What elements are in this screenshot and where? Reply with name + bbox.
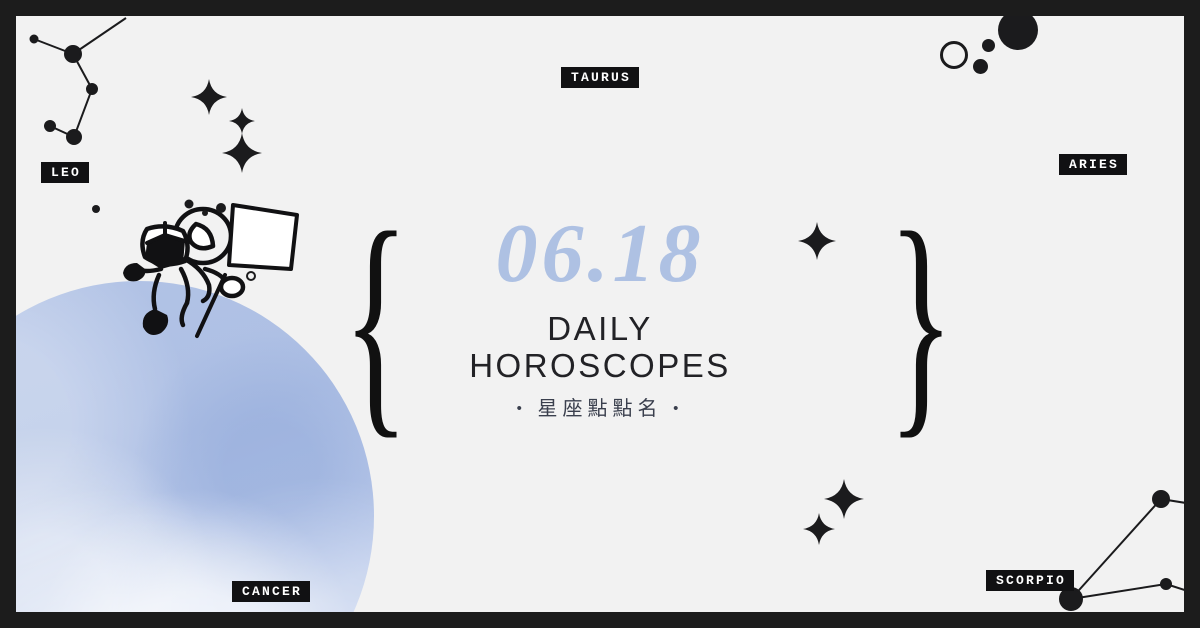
sparkle-icon [229, 108, 255, 134]
title-block: 06.18 DAILY HOROSCOPES • 星座點點名 • [16, 212, 1184, 421]
sparkle-icon [191, 79, 227, 115]
decorative-dot [998, 16, 1038, 50]
decorative-ring [940, 41, 968, 69]
zodiac-tag-cancer: CANCER [232, 581, 310, 602]
date-text: 06.18 [16, 212, 1184, 296]
poster: { } 06.18 DAILY HOROSCOPES • 星座點點名 • TAU… [0, 0, 1200, 628]
zodiac-tag-leo: LEO [41, 162, 89, 183]
subtitle-text: 星座點點名 [538, 398, 663, 420]
decorative-dot [982, 39, 995, 52]
poster-canvas: { } 06.18 DAILY HOROSCOPES • 星座點點名 • TAU… [16, 16, 1184, 612]
decorative-dot [973, 59, 988, 74]
zodiac-tag-scorpio: SCORPIO [986, 570, 1074, 591]
title-line-1: DAILY [16, 310, 1184, 347]
subtitle-dot-left: • [517, 400, 527, 417]
sparkle-icon [803, 513, 835, 545]
title-line-2: HOROSCOPES [16, 347, 1184, 384]
zodiac-tag-aries: ARIES [1059, 154, 1127, 175]
subtitle: • 星座點點名 • [16, 392, 1184, 421]
subtitle-dot-right: • [673, 400, 683, 417]
sparkle-icon [222, 133, 262, 173]
zodiac-tag-taurus: TAURUS [561, 67, 639, 88]
constellation-top-left-icon [16, 16, 176, 156]
